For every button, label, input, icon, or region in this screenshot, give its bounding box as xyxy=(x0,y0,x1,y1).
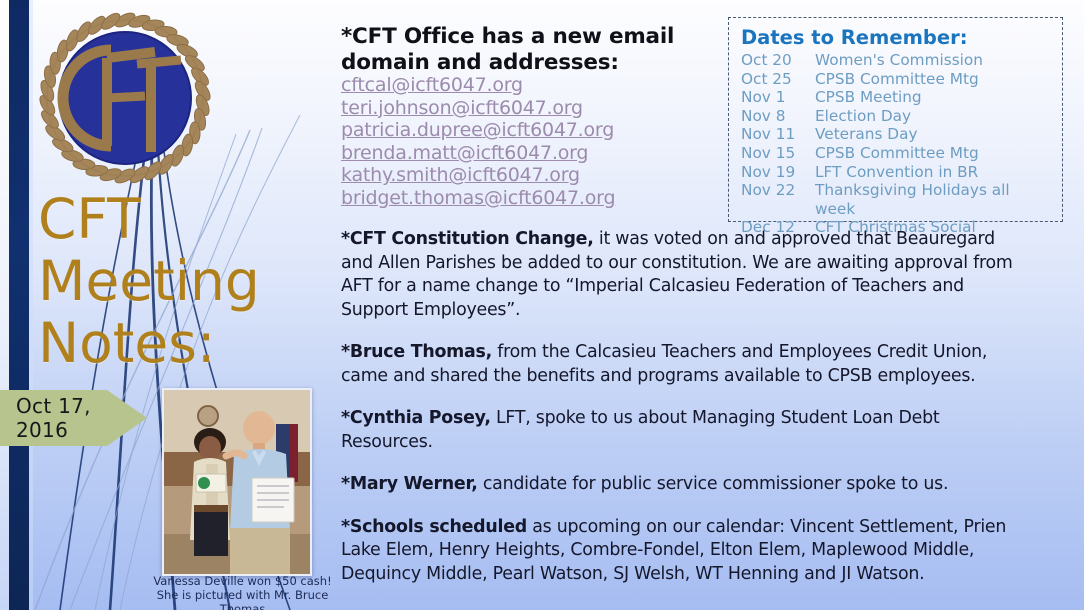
left-navy-stripe xyxy=(9,0,29,610)
photo-caption-line-2: She is pictured with Mr. Bruce Thomas xyxy=(140,588,345,610)
email-link[interactable]: teri.johnson@icft6047.org xyxy=(341,97,741,120)
date-event: Veterans Day xyxy=(815,125,1052,144)
page-title: CFT Meeting Notes: xyxy=(38,188,318,374)
date-event: Election Day xyxy=(815,107,1052,126)
email-address-list: cftcal@icft6047.org teri.johnson@icft604… xyxy=(341,74,741,210)
note-lead: *Bruce Thomas, xyxy=(341,342,492,362)
date-row: Nov 15CPSB Committee Mtg xyxy=(741,144,1052,163)
date-value: Nov 15 xyxy=(741,144,815,163)
date-row: Nov 22Thanksgiving Holidays all week xyxy=(741,181,1052,218)
note-paragraph: *Mary Werner, candidate for public servi… xyxy=(341,473,1031,497)
meeting-notes-body: *CFT Constitution Change, it was voted o… xyxy=(341,228,1031,605)
date-value: Nov 8 xyxy=(741,107,815,126)
note-lead: *Cynthia Posey, xyxy=(341,408,491,428)
date-value: Nov 11 xyxy=(741,125,815,144)
date-row: Nov 11Veterans Day xyxy=(741,125,1052,144)
note-paragraph: *CFT Constitution Change, it was voted o… xyxy=(341,228,1031,322)
dates-box-title: Dates to Remember: xyxy=(741,26,1052,50)
email-link[interactable]: brenda.matt@icft6047.org xyxy=(341,142,741,165)
email-link[interactable]: kathy.smith@icft6047.org xyxy=(341,164,741,187)
date-row: Oct 20Women's Commission xyxy=(741,51,1052,70)
date-badge: Oct 17, 2016 xyxy=(0,390,147,446)
title-line-1: CFT xyxy=(38,188,318,250)
date-row: Nov 1CPSB Meeting xyxy=(741,88,1052,107)
date-event: CPSB Committee Mtg xyxy=(815,144,1052,163)
note-paragraph: *Schools scheduled as upcoming on our ca… xyxy=(341,516,1031,587)
note-lead: *Schools scheduled xyxy=(341,517,527,537)
email-link[interactable]: cftcal@icft6047.org xyxy=(341,74,741,97)
date-value: Nov 22 xyxy=(741,181,815,218)
email-section-heading: *CFT Office has a new email domain and a… xyxy=(341,24,733,76)
date-event: Women's Commission xyxy=(815,51,1052,70)
date-event: LFT Convention in BR xyxy=(815,163,1052,182)
email-link[interactable]: bridget.thomas@icft6047.org xyxy=(341,187,741,210)
left-white-edge xyxy=(0,0,9,610)
meeting-photo xyxy=(162,388,312,576)
date-event: CPSB Committee Mtg xyxy=(815,70,1052,89)
note-paragraph: *Bruce Thomas, from the Calcasieu Teache… xyxy=(341,341,1031,388)
note-text: candidate for public service commissione… xyxy=(478,474,949,494)
date-value: Oct 20 xyxy=(741,51,815,70)
photo-caption-line-1: Vanessa Deville won $50 cash! xyxy=(140,574,345,588)
date-value: Nov 19 xyxy=(741,163,815,182)
photo-caption: Vanessa Deville won $50 cash! She is pic… xyxy=(140,574,345,610)
date-badge-label: Oct 17, 2016 xyxy=(0,394,147,442)
date-row: Oct 25CPSB Committee Mtg xyxy=(741,70,1052,89)
date-event: CPSB Meeting xyxy=(815,88,1052,107)
email-link[interactable]: patricia.dupree@icft6047.org xyxy=(341,119,741,142)
note-lead: *Mary Werner, xyxy=(341,474,478,494)
slide-canvas: CFT Meeting Notes: Oct 17, 2016 xyxy=(0,0,1084,610)
note-paragraph: *Cynthia Posey, LFT, spoke to us about M… xyxy=(341,407,1031,454)
note-lead: *CFT Constitution Change, xyxy=(341,229,594,249)
date-row: Nov 19LFT Convention in BR xyxy=(741,163,1052,182)
dates-to-remember-box: Dates to Remember: Oct 20Women's Commiss… xyxy=(728,17,1063,222)
date-row: Nov 8Election Day xyxy=(741,107,1052,126)
title-line-2: Meeting xyxy=(38,250,318,312)
date-value: Oct 25 xyxy=(741,70,815,89)
title-line-3: Notes: xyxy=(38,312,318,374)
cft-logo xyxy=(33,6,218,194)
date-value: Nov 1 xyxy=(741,88,815,107)
date-event: Thanksgiving Holidays all week xyxy=(815,181,1052,218)
